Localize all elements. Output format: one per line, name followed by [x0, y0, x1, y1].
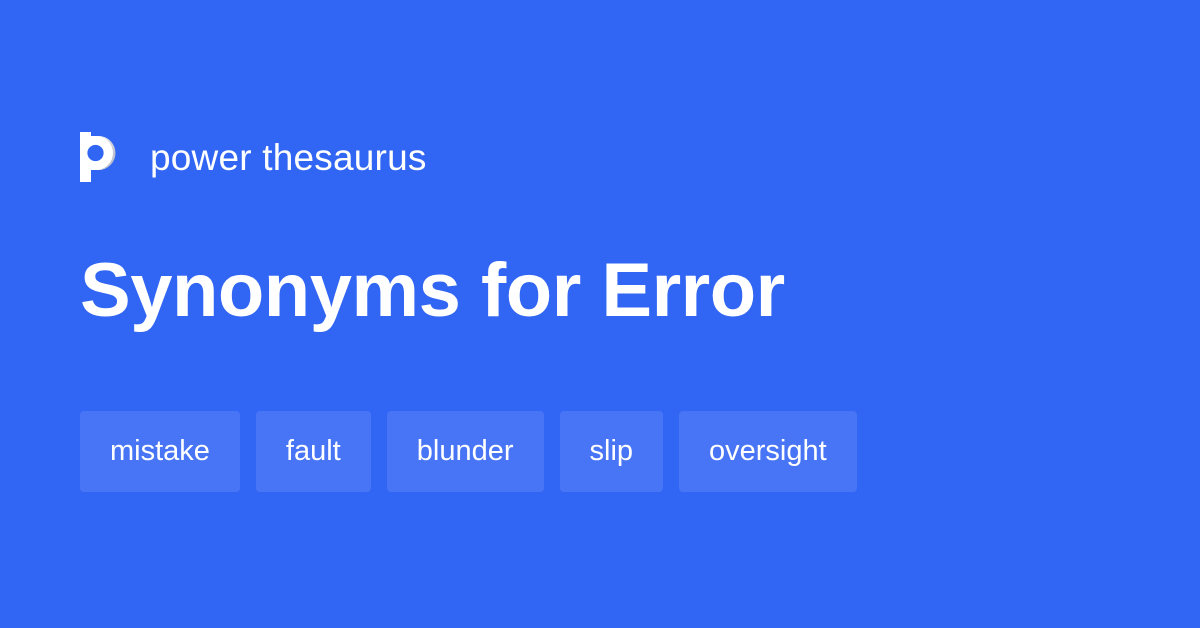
synonym-chip[interactable]: blunder [387, 411, 544, 492]
brand-name: power thesaurus [150, 139, 427, 176]
synonym-chip[interactable]: fault [256, 411, 371, 492]
synonym-chip[interactable]: oversight [679, 411, 857, 492]
synonym-chip-list: mistake fault blunder slip oversight [80, 411, 857, 492]
social-share-card: power thesaurus Synonyms for Error mista… [0, 0, 1200, 628]
synonym-chip[interactable]: mistake [80, 411, 240, 492]
power-thesaurus-b-logo-icon [80, 132, 124, 182]
synonym-chip[interactable]: slip [560, 411, 664, 492]
brand-lockup[interactable]: power thesaurus [80, 128, 427, 186]
page-title: Synonyms for Error [80, 250, 785, 332]
